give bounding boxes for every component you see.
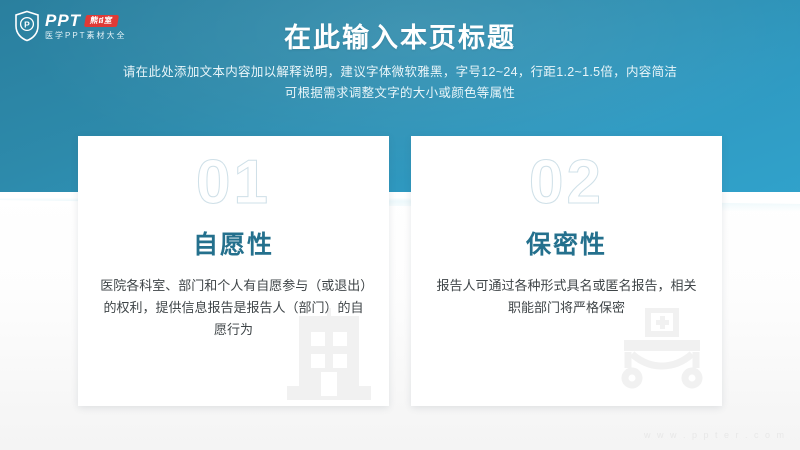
card-01[interactable]: 01 自愿性 医院各科室、部门和个人有自愿参与（或退出）的权利，提供信息报告是报… <box>78 136 389 406</box>
subtitle-line-2: 可根据需求调整文字的大小或颜色等属性 <box>0 83 800 104</box>
logo-text-group: PPT 熊ផ室 医学PPT素材大全 <box>45 12 127 40</box>
card-number: 01 <box>78 152 389 214</box>
shield-icon: P <box>14 10 40 42</box>
card-number: 02 <box>411 152 722 214</box>
hospital-bed-icon <box>606 308 718 406</box>
subtitle-line-1: 请在此处添加文本内容加以解释说明，建议字体微软雅黑，字号12~24，行距1.2~… <box>0 62 800 83</box>
site-watermark: w w w . p p t e r . c o m <box>644 430 786 440</box>
logo-badge: 熊ផ室 <box>84 15 119 27</box>
page-subtitle: 请在此处添加文本内容加以解释说明，建议字体微软雅黑，字号12~24，行距1.2~… <box>0 62 800 104</box>
logo-brand-text: PPT <box>45 12 81 29</box>
svg-text:P: P <box>24 20 30 30</box>
logo-tagline: 医学PPT素材大全 <box>45 32 127 40</box>
card-02[interactable]: 02 保密性 报告人可通过各种形式具名或匿名报告，相关职能部门将严格保密 <box>411 136 722 406</box>
brand-logo[interactable]: P PPT 熊ផ室 医学PPT素材大全 <box>14 8 164 44</box>
card-body-text: 医院各科室、部门和个人有自愿参与（或退出）的权利，提供信息报告是报告人（部门）的… <box>98 275 370 341</box>
content-cards: 01 自愿性 医院各科室、部门和个人有自愿参与（或退出）的权利，提供信息报告是报… <box>78 136 722 406</box>
card-body-text: 报告人可通过各种形式具名或匿名报告，相关职能部门将严格保密 <box>431 275 703 319</box>
card-heading: 保密性 <box>411 232 722 260</box>
card-heading: 自愿性 <box>78 232 389 260</box>
logo-top-row: PPT 熊ផ室 <box>45 12 127 29</box>
slide: P PPT 熊ផ室 医学PPT素材大全 在此输入本页标题 请在此处添加文本内容加… <box>0 0 800 450</box>
